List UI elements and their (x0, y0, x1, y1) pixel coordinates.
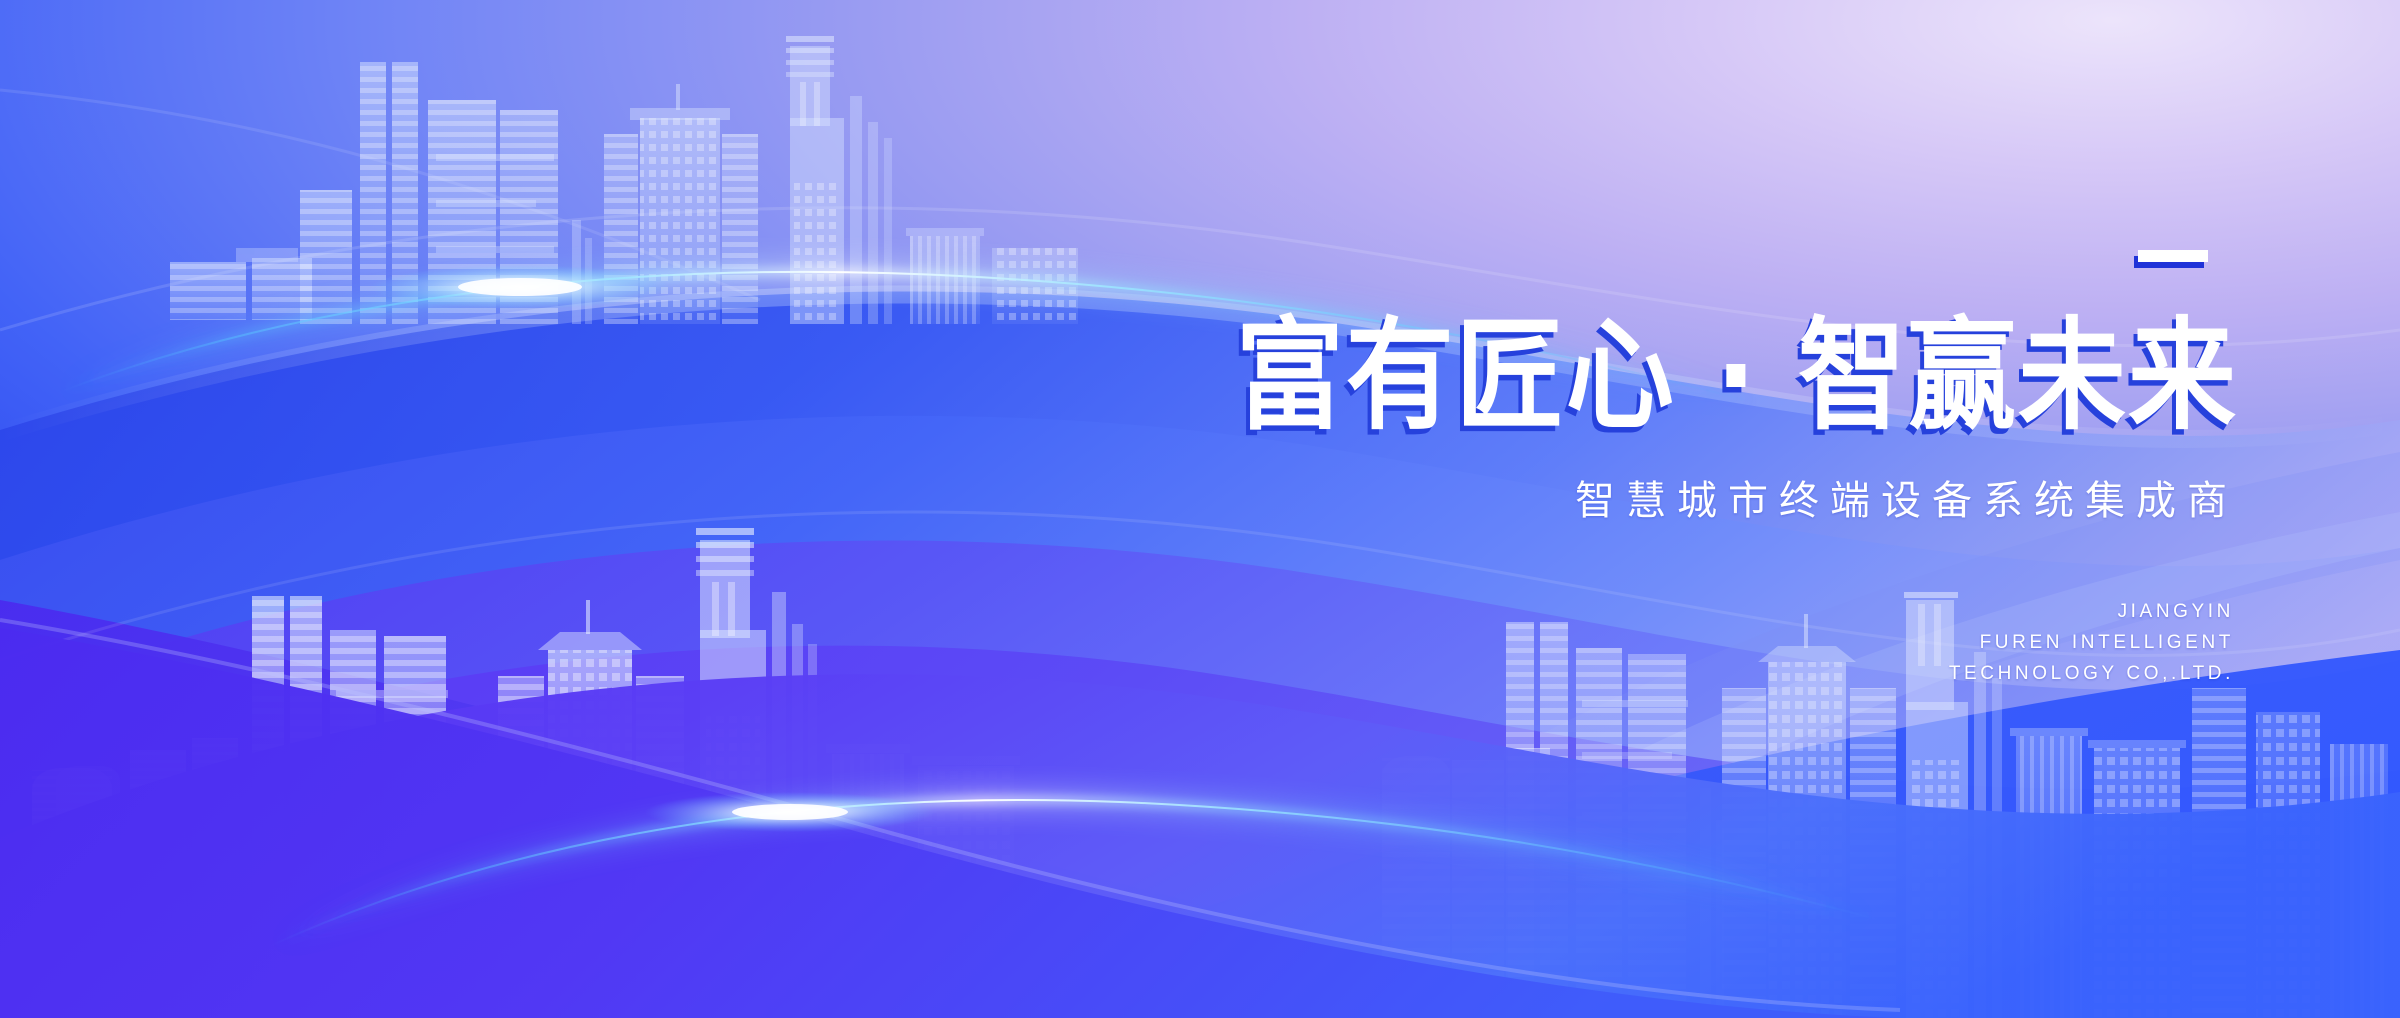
company-name-block: JIANGYIN FUREN INTELLIGENT TECHNOLOGY CO… (1040, 597, 2240, 689)
company-line-1: JIANGYIN (1040, 597, 2234, 628)
divider-dash-icon (2138, 250, 2208, 262)
promo-banner: 富有匠心 · 智赢未来 智慧城市终端设备系统集成商 JIANGYIN FUREN… (0, 0, 2400, 1018)
company-line-2: FUREN INTELLIGENT (1040, 628, 2234, 659)
company-line-3: TECHNOLOGY CO,.LTD. (1040, 659, 2234, 690)
page-subtitle: 智慧城市终端设备系统集成商 (1040, 481, 2240, 521)
page-title: 富有匠心 · 智赢未来 (1040, 317, 2238, 438)
headline-block: 富有匠心 · 智赢未来 智慧城市终端设备系统集成商 JIANGYIN FUREN… (1040, 250, 2240, 689)
